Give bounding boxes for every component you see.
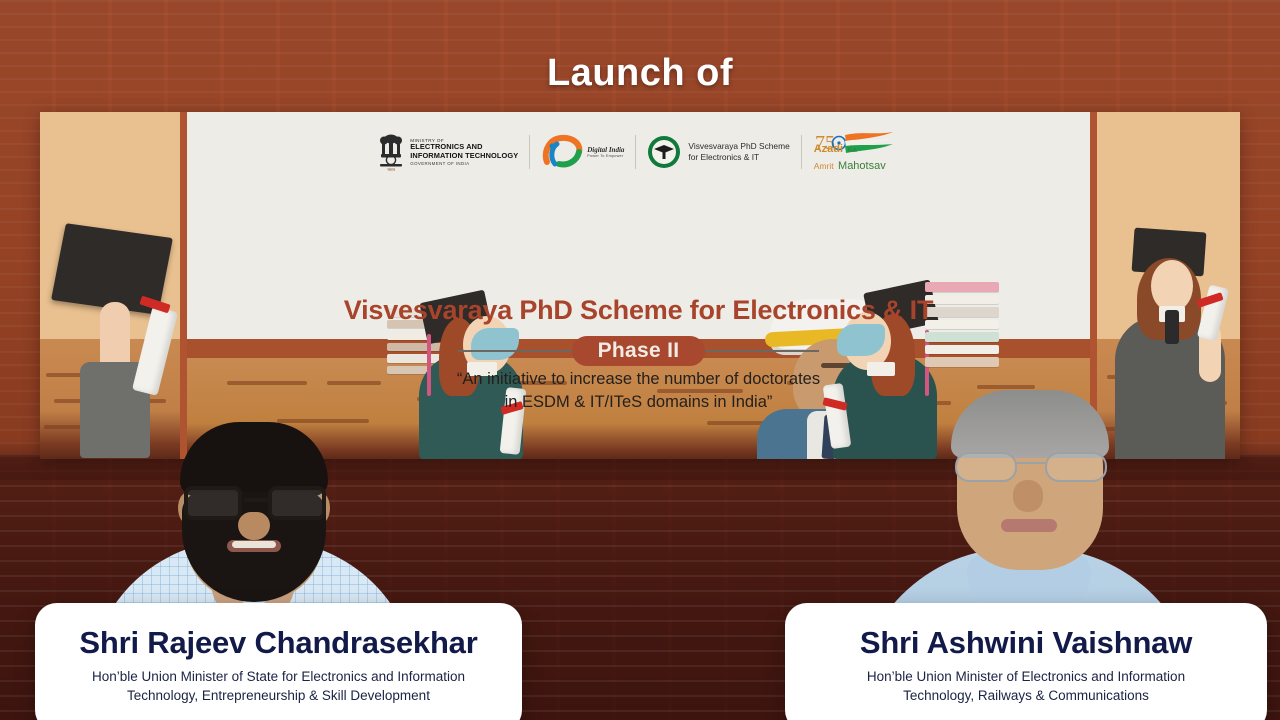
graduation-cap-icon bbox=[58, 230, 166, 308]
digital-india-tagline: Power To Empower bbox=[587, 154, 624, 158]
hair bbox=[951, 390, 1109, 458]
ka-word: Ka bbox=[848, 145, 857, 154]
name-card-rajeev-chandrasekhar: Shri Rajeev Chandrasekhar Hon’ble Union … bbox=[35, 603, 522, 720]
person-name: Shri Rajeev Chandrasekhar bbox=[49, 625, 508, 661]
digital-india-swirl-icon bbox=[541, 132, 583, 172]
name-card-ashwini-vaishnaw: Shri Ashwini Vaishnaw Hon’ble Union Mini… bbox=[785, 603, 1267, 720]
digital-india-logo: Digital India Power To Empower bbox=[530, 129, 635, 175]
eyeglasses-icon bbox=[955, 452, 1107, 482]
meity-line4: GOVERNMENT OF INDIA bbox=[410, 161, 518, 166]
person-name: Shri Ashwini Vaishnaw bbox=[799, 625, 1253, 661]
azadi-ka-amrit-mahotsav-logo: 75 Azadi Ka Amrit Mahotsav bbox=[802, 129, 910, 175]
page-title: Launch of bbox=[0, 52, 1280, 95]
hair bbox=[180, 422, 328, 496]
ashoka-emblem-icon: भारत bbox=[378, 132, 404, 172]
phase-rule-left bbox=[458, 350, 578, 352]
svg-text:भारत: भारत bbox=[387, 167, 395, 172]
vps-line2: for Electronics & IT bbox=[688, 152, 789, 163]
azadi-word: Azadi bbox=[814, 143, 843, 155]
person-designation-line1: Hon’ble Union Minister of State for Elec… bbox=[49, 667, 508, 687]
eyeglasses-icon bbox=[184, 486, 326, 520]
vps-line1: Visvesvaraya PhD Scheme bbox=[688, 141, 789, 152]
amrit-word: Amrit bbox=[814, 161, 834, 171]
phase-badge: Phase II bbox=[572, 336, 706, 366]
mahotsav-word: Mahotsav bbox=[838, 160, 886, 172]
digital-india-name: Digital India bbox=[587, 146, 624, 154]
person-designation-line2: Technology, Railways & Communications bbox=[799, 686, 1253, 706]
meity-emblem-logo: भारत MINISTRY OF ELECTRONICS AND INFORMA… bbox=[367, 129, 529, 175]
meity-line3: INFORMATION TECHNOLOGY bbox=[410, 152, 518, 161]
vps-seal-icon bbox=[647, 135, 681, 169]
person-designation-line1: Hon’ble Union Minister of Electronics an… bbox=[799, 667, 1253, 687]
phase-rule-right bbox=[699, 350, 819, 352]
vps-scheme-logo: Visvesvaraya PhD Scheme for Electronics … bbox=[636, 129, 800, 175]
person-designation-line2: Technology, Entrepreneurship & Skill Dev… bbox=[49, 686, 508, 706]
logo-strip: भारत MINISTRY OF ELECTRONICS AND INFORMA… bbox=[187, 124, 1090, 180]
